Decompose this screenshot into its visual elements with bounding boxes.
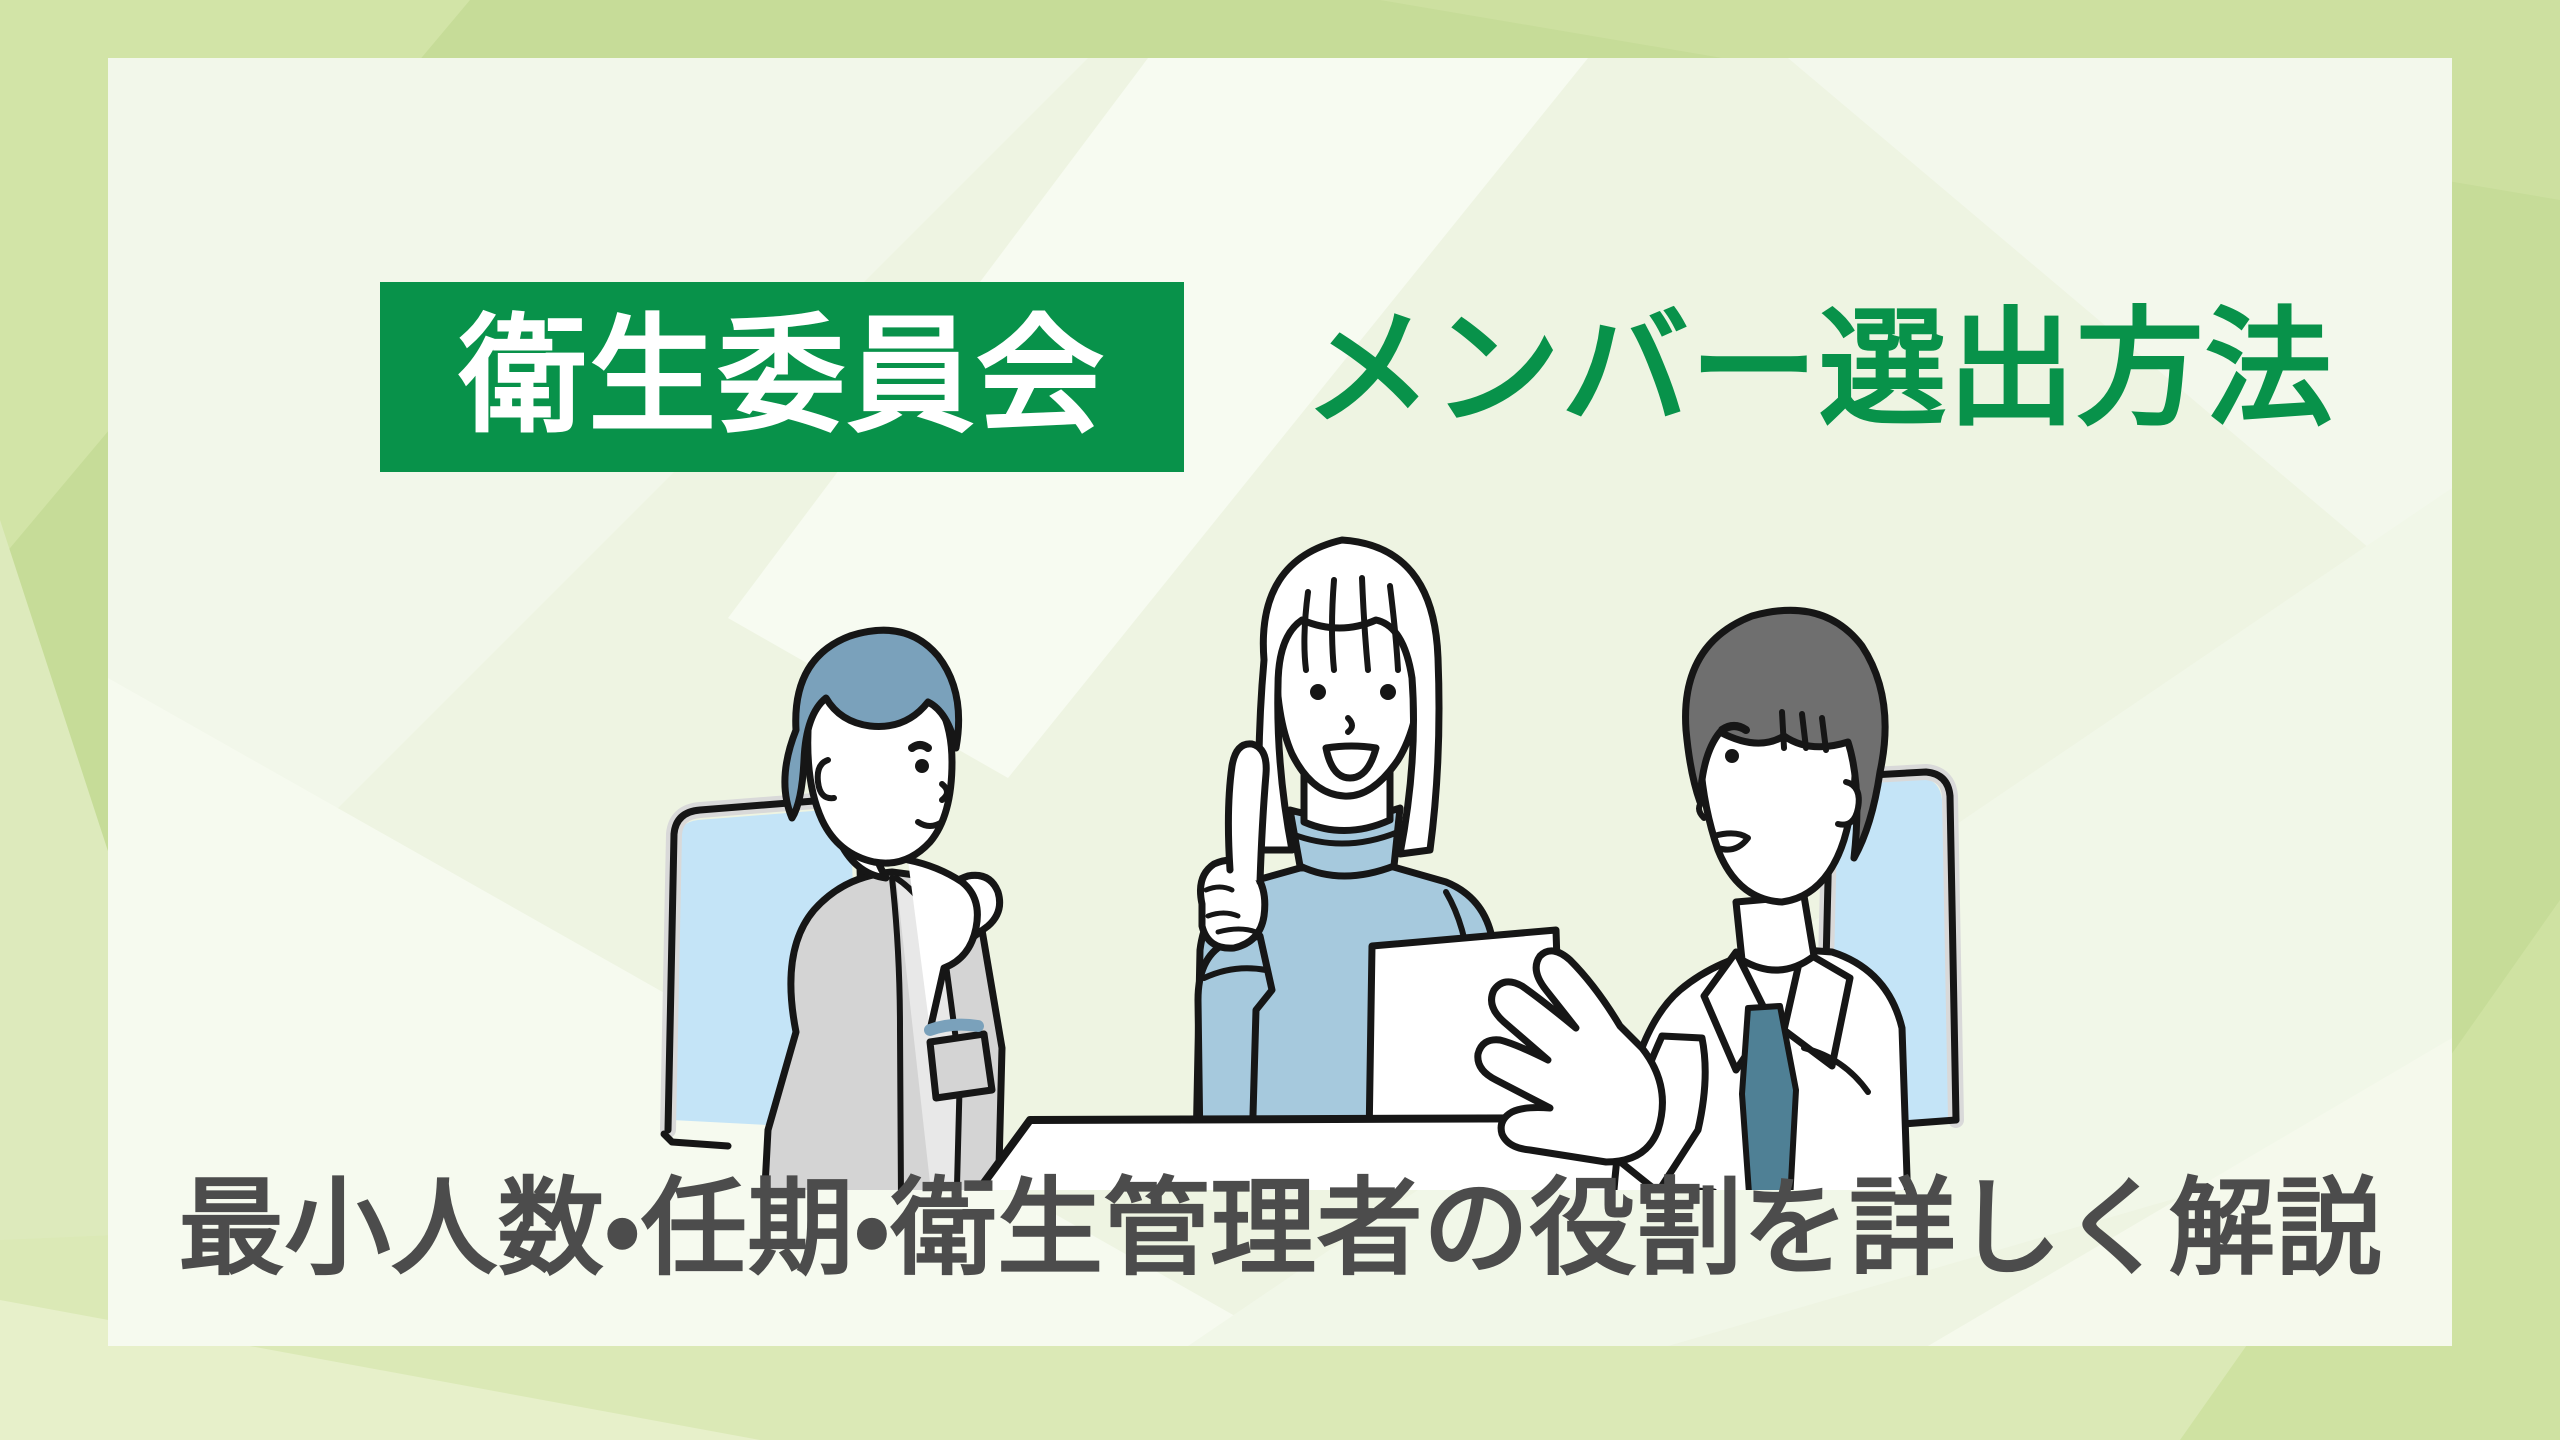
subtitle-text: 最小人数・任期・衛生管理者の役割を詳しく解説 [0,1168,2560,1290]
inner-panel: 衛生委員会 メンバー選出方法 [108,58,2452,1346]
banner-canvas: 衛生委員会 メンバー選出方法 [0,0,2560,1440]
meeting-illustration-svg [600,430,2000,1190]
meeting-illustration [600,430,2000,1190]
